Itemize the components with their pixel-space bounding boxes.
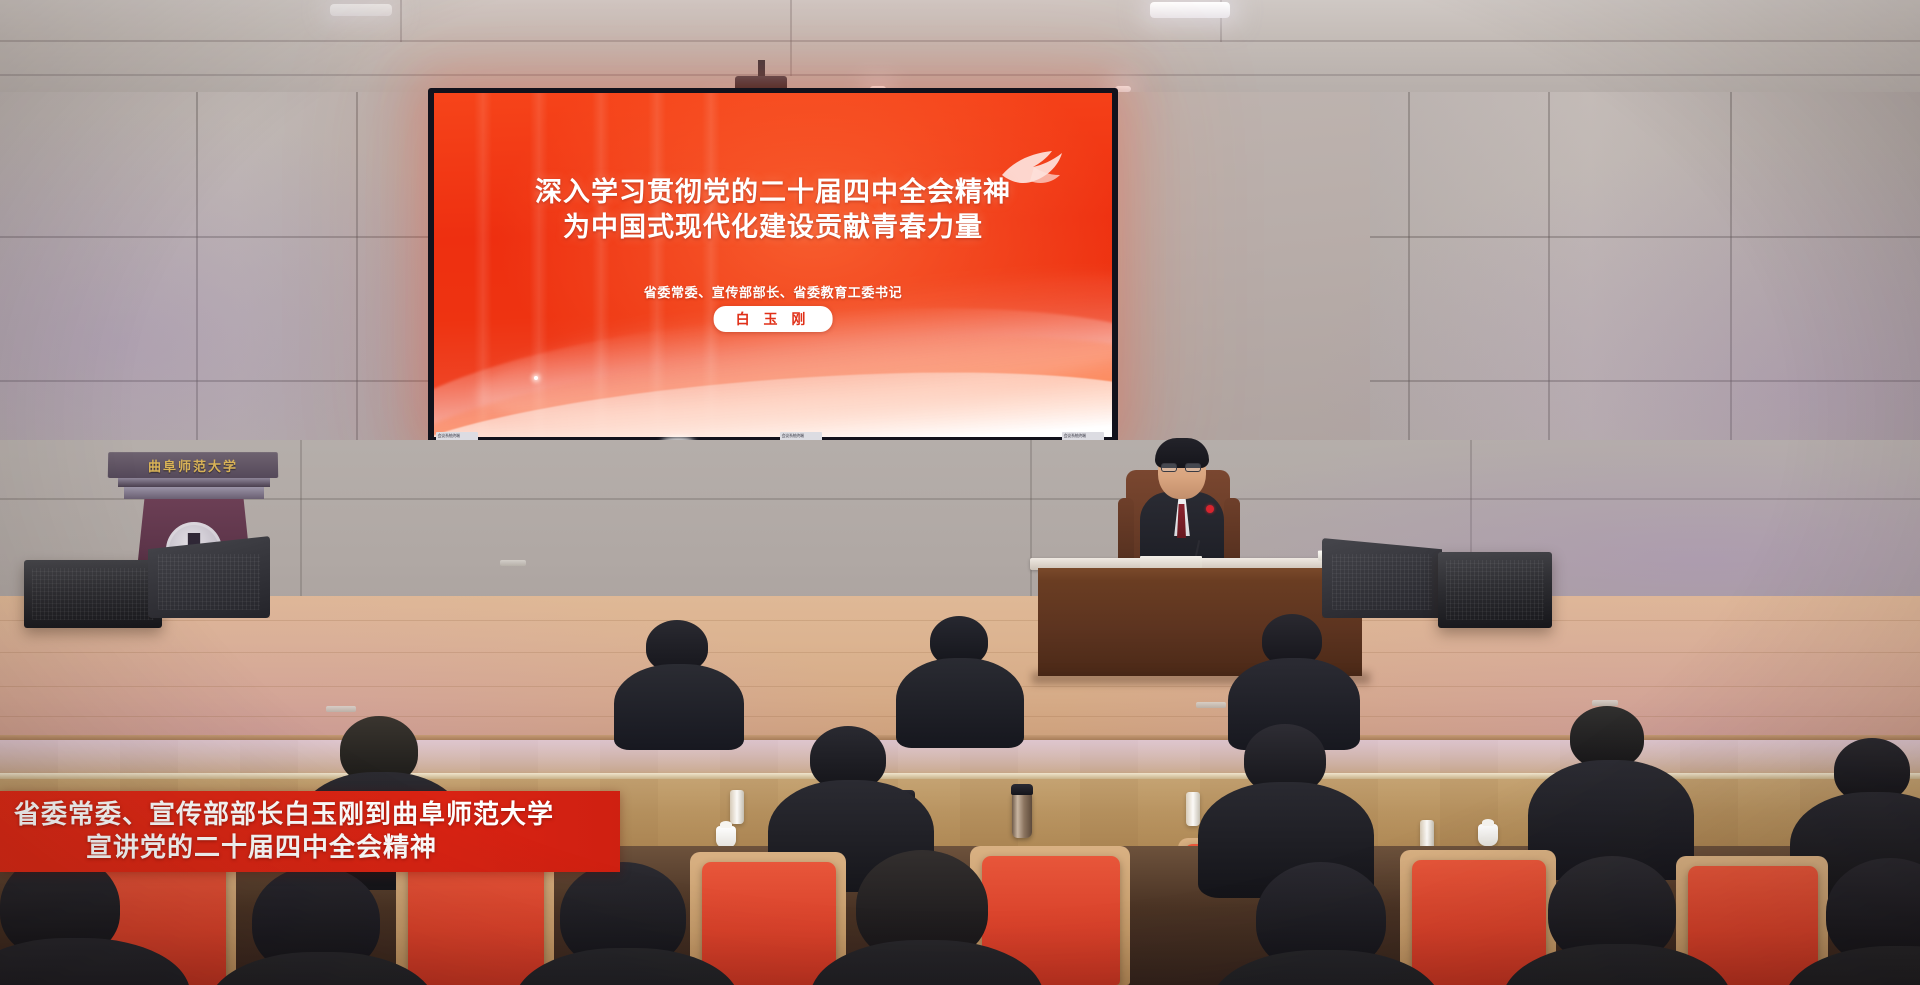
- led-speaker-name: 白 玉 刚: [714, 306, 833, 332]
- led-highlight-dot: [534, 376, 538, 380]
- panel-seam: [0, 236, 430, 238]
- led-screen: 深入学习贯彻党的二十届四中全会精神 为中国式现代化建设贡献青春力量 省委常委、宣…: [428, 88, 1118, 444]
- water-bottle: [730, 790, 744, 824]
- speaker-chair-armrest: [1118, 498, 1134, 564]
- auditorium-seat: [702, 862, 836, 985]
- podium-institution-name: 曲阜师范大学: [108, 456, 278, 475]
- led-credit-line: 省委常委、宣传部部长、省委教育工委书记: [434, 282, 1112, 301]
- speaker-nameplate: [1140, 556, 1202, 568]
- caption-banner: 省委常委、宣传部部长白玉刚到曲阜师范大学 宣讲党的二十届四中全会精神: [0, 791, 620, 872]
- caption-line-2: 宣讲党的二十届四中全会精神: [0, 832, 620, 865]
- led-title-line-2: 为中国式现代化建设贡献青春力量: [434, 210, 1112, 245]
- water-bottle: [1186, 792, 1200, 826]
- tea-cup: [1478, 824, 1498, 846]
- tea-cup: [716, 826, 736, 848]
- podium-band: [124, 487, 264, 499]
- speaker-lapel-badge: [1206, 505, 1214, 513]
- stage-wall-seam: [1030, 440, 1032, 598]
- thermos-flask: [1012, 792, 1032, 838]
- caption-line-1: 省委常委、宣传部部长白玉刚到曲阜师范大学: [0, 799, 620, 832]
- floor-socket-cover: [1196, 702, 1226, 708]
- panel-seam: [1370, 236, 1920, 238]
- ceiling: [0, 0, 1920, 96]
- floor-socket-cover: [326, 706, 356, 712]
- floor-monitor-speaker: [1322, 538, 1442, 618]
- floor-monitor-speaker: [24, 560, 162, 628]
- audience-member-head: [1570, 706, 1644, 768]
- ceiling-seam: [400, 0, 402, 42]
- podium-shelf: [118, 478, 270, 487]
- led-screen-content: 深入学习贯彻党的二十届四中全会精神 为中国式现代化建设贡献青春力量 省委常委、宣…: [434, 93, 1112, 437]
- panel-seam: [0, 380, 430, 382]
- panel-seam: [1370, 380, 1920, 382]
- speaker-glasses-icon: [1161, 463, 1203, 472]
- floor-monitor-speaker: [1438, 552, 1552, 628]
- ceiling-seam: [0, 40, 1920, 42]
- led-title: 深入学习贯彻党的二十届四中全会精神 为中国式现代化建设贡献青春力量: [434, 175, 1112, 245]
- ceiling-light: [330, 4, 392, 16]
- photo-scene: 深入学习贯彻党的二十届四中全会精神 为中国式现代化建设贡献青春力量 省委常委、宣…: [0, 0, 1920, 985]
- audience-member-shoulders: [614, 664, 744, 750]
- stage-wall-seam: [300, 440, 302, 598]
- thermos-cap: [1011, 784, 1033, 795]
- ceiling-seam: [0, 74, 1920, 76]
- speaker-chair-armrest: [1224, 498, 1240, 564]
- led-title-line-1: 深入学习贯彻党的二十届四中全会精神: [535, 177, 1011, 207]
- auditorium-seat: [408, 858, 544, 985]
- ceiling-seam: [790, 0, 792, 76]
- stage-wall-seam: [0, 498, 1920, 500]
- floor-monitor-speaker: [148, 536, 270, 618]
- audience-member-shoulders: [896, 658, 1024, 748]
- floor-socket-cover: [500, 560, 526, 566]
- ceiling-light: [1150, 2, 1230, 18]
